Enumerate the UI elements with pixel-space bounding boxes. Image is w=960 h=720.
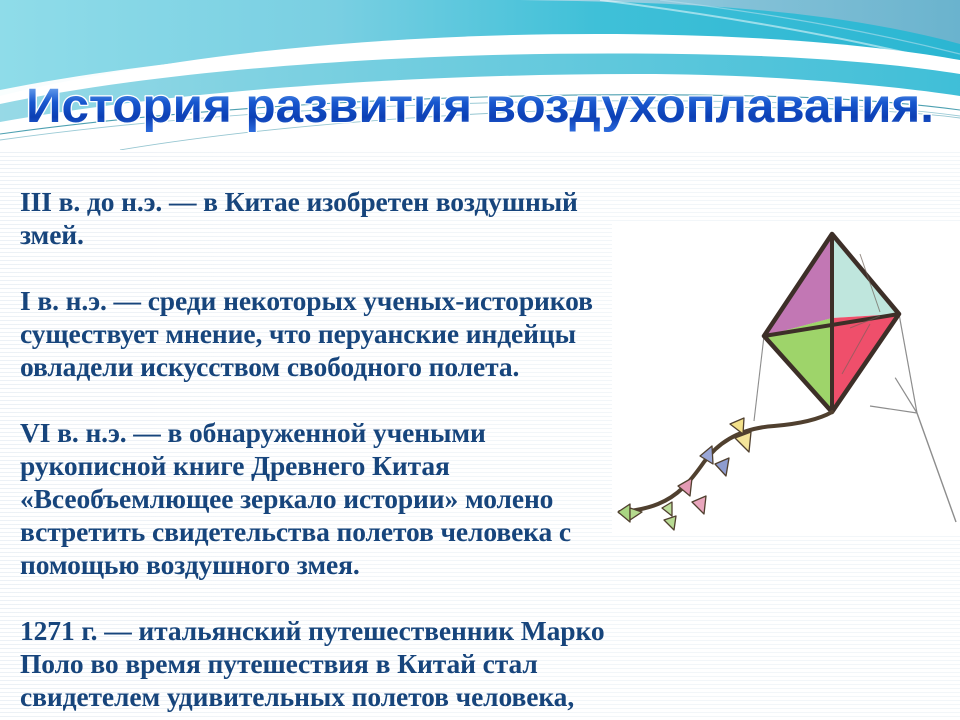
slide: История развития воздухоплавания. III в.… (0, 0, 960, 720)
paragraph-4: 1271 г. — итальянский путешественник Мар… (20, 614, 620, 720)
paragraph-1: III в. до н.э. — в Китае изобретен возду… (20, 185, 620, 251)
paragraph-2: I в. н.э. — среди некоторых ученых-истор… (20, 284, 620, 383)
page-title-text: История развития воздухоплавания. (26, 80, 934, 133)
body-text-block: III в. до н.э. — в Китае изобретен возду… (20, 152, 620, 720)
slide-title: История развития воздухоплавания. (0, 74, 960, 136)
kite-illustration (612, 224, 960, 536)
paragraph-3: VI в. н.э. — в обнаруженной учеными руко… (20, 416, 620, 581)
